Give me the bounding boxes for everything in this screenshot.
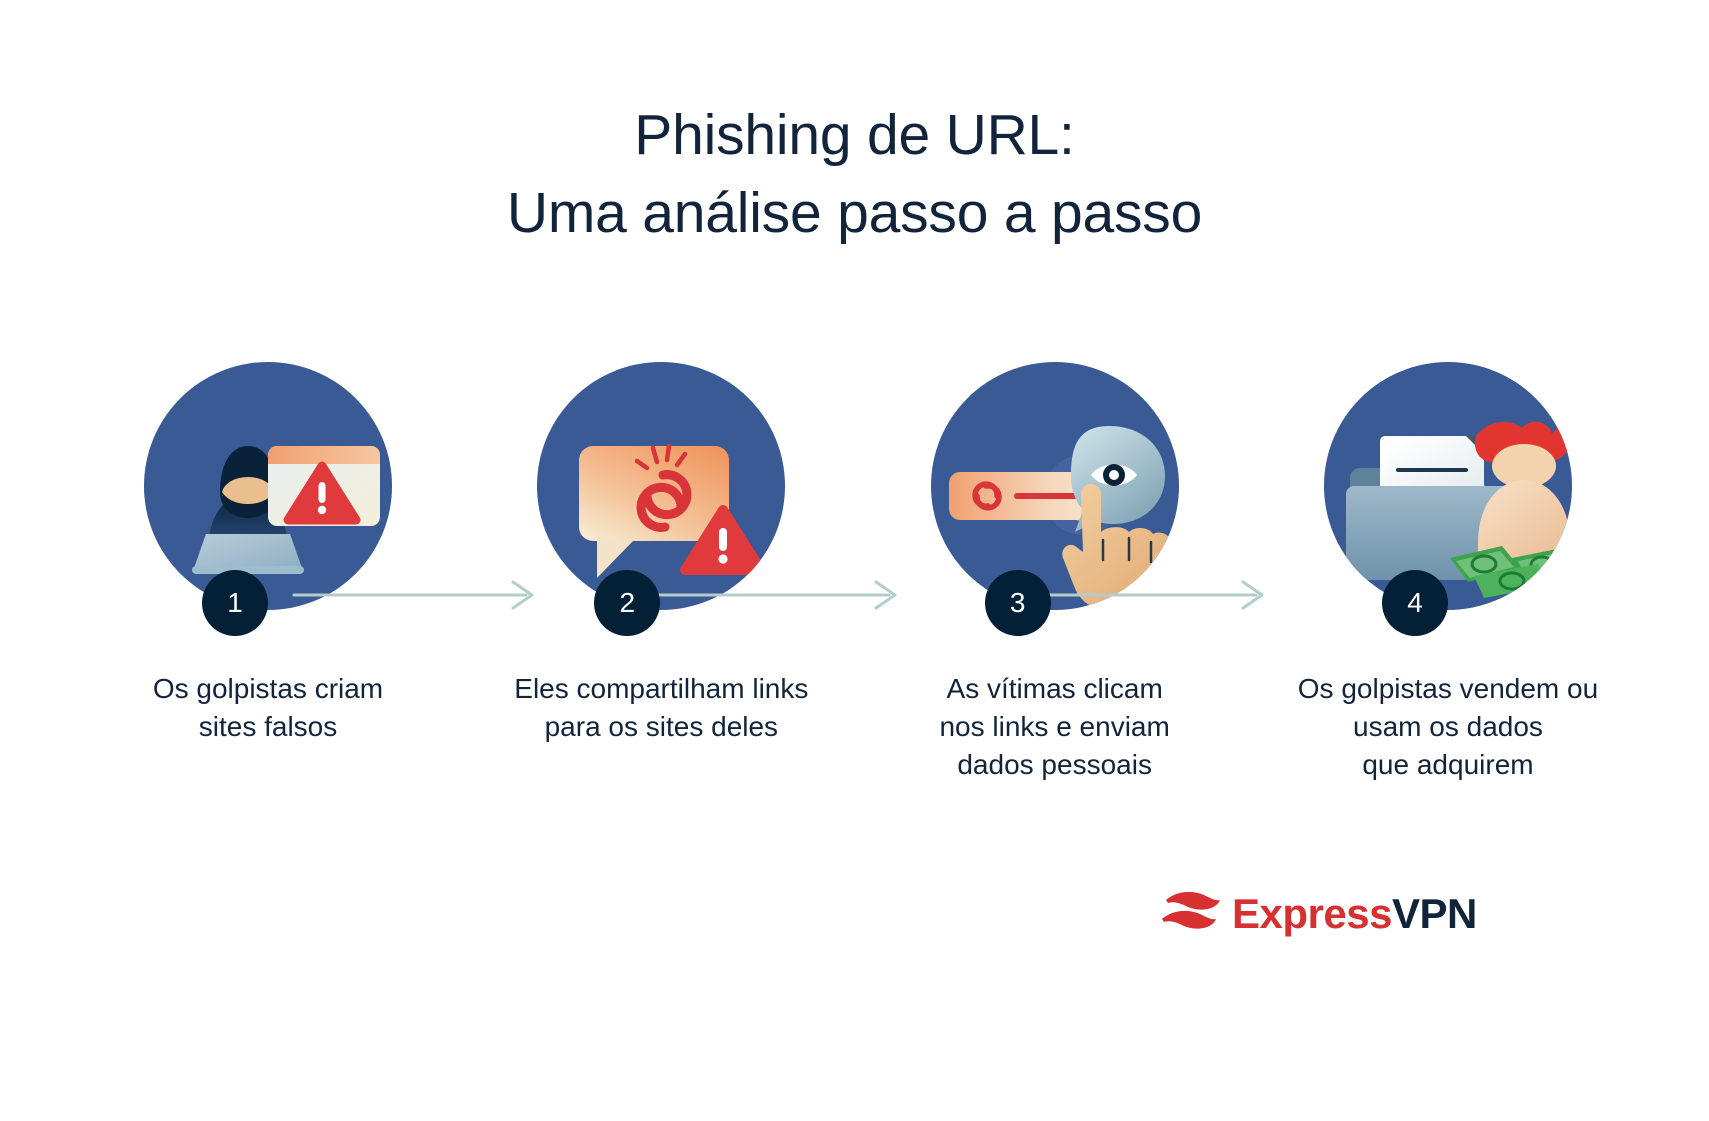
step-4-caption: Os golpistas vendem ou usam os dados que…: [1253, 670, 1643, 784]
page-title: Phishing de URL: Uma análise passo a pas…: [0, 96, 1709, 252]
title-line-1: Phishing de URL:: [0, 96, 1709, 174]
step-2-number-badge: 2: [594, 570, 660, 636]
arrow-step-2-to-3: [655, 578, 905, 612]
step-1: 1 Os golpistas criam sites falsos: [88, 362, 448, 746]
step-1-caption: Os golpistas criam sites falsos: [103, 670, 433, 746]
expressvpn-logo-mark: [1160, 888, 1222, 940]
step-3-caption-line-1: As vítimas clicam: [947, 673, 1163, 704]
step-1-icon-circle: [144, 362, 392, 610]
expressvpn-logo: ExpressVPN: [1160, 888, 1477, 940]
step-1-number-badge: 1: [202, 570, 268, 636]
step-3-caption-line-2: nos links e enviam: [939, 711, 1169, 742]
step-2: 2 Eles compartilham links para os sites …: [481, 362, 841, 746]
url-bar-click-eye-icon: [931, 362, 1179, 610]
title-line-2: Uma análise passo a passo: [0, 174, 1709, 252]
step-1-caption-line-1: Os golpistas criam: [153, 673, 383, 704]
step-4-number-badge: 4: [1382, 570, 1448, 636]
step-3-number-badge: 3: [985, 570, 1051, 636]
step-2-caption: Eles compartilham links para os sites de…: [466, 670, 856, 746]
step-3-icon-circle: [931, 362, 1179, 610]
step-2-icon-circle: [537, 362, 785, 610]
step-4-icon-circle: [1324, 362, 1572, 610]
step-2-caption-line-2: para os sites deles: [545, 711, 778, 742]
step-3-caption: As vítimas clicam nos links e enviam dad…: [905, 670, 1205, 784]
step-4: 4 Os golpistas vendem ou usam os dados q…: [1268, 362, 1628, 784]
folder-documents-money-thief-icon: [1324, 362, 1572, 610]
step-4-caption-line-2: usam os dados: [1353, 711, 1543, 742]
arrow-step-1-to-2: [292, 578, 542, 612]
step-1-caption-line-2: sites falsos: [199, 711, 338, 742]
step-2-caption-line-1: Eles compartilham links: [514, 673, 808, 704]
step-3: 3 As vítimas clicam nos links e enviam d…: [875, 362, 1235, 784]
arrow-step-3-to-4: [1022, 578, 1272, 612]
step-3-caption-line-3: dados pessoais: [957, 749, 1152, 780]
logo-text-express: Express: [1232, 890, 1392, 937]
logo-text-vpn: VPN: [1392, 890, 1477, 937]
hacker-laptop-warning-icon: [144, 362, 392, 610]
step-4-caption-line-3: que adquirem: [1362, 749, 1533, 780]
infographic-page: Phishing de URL: Uma análise passo a pas…: [0, 0, 1709, 1121]
chat-bubble-broken-link-warning-icon: [537, 362, 785, 610]
expressvpn-wordmark: ExpressVPN: [1232, 890, 1477, 938]
step-4-caption-line-1: Os golpistas vendem ou: [1298, 673, 1598, 704]
